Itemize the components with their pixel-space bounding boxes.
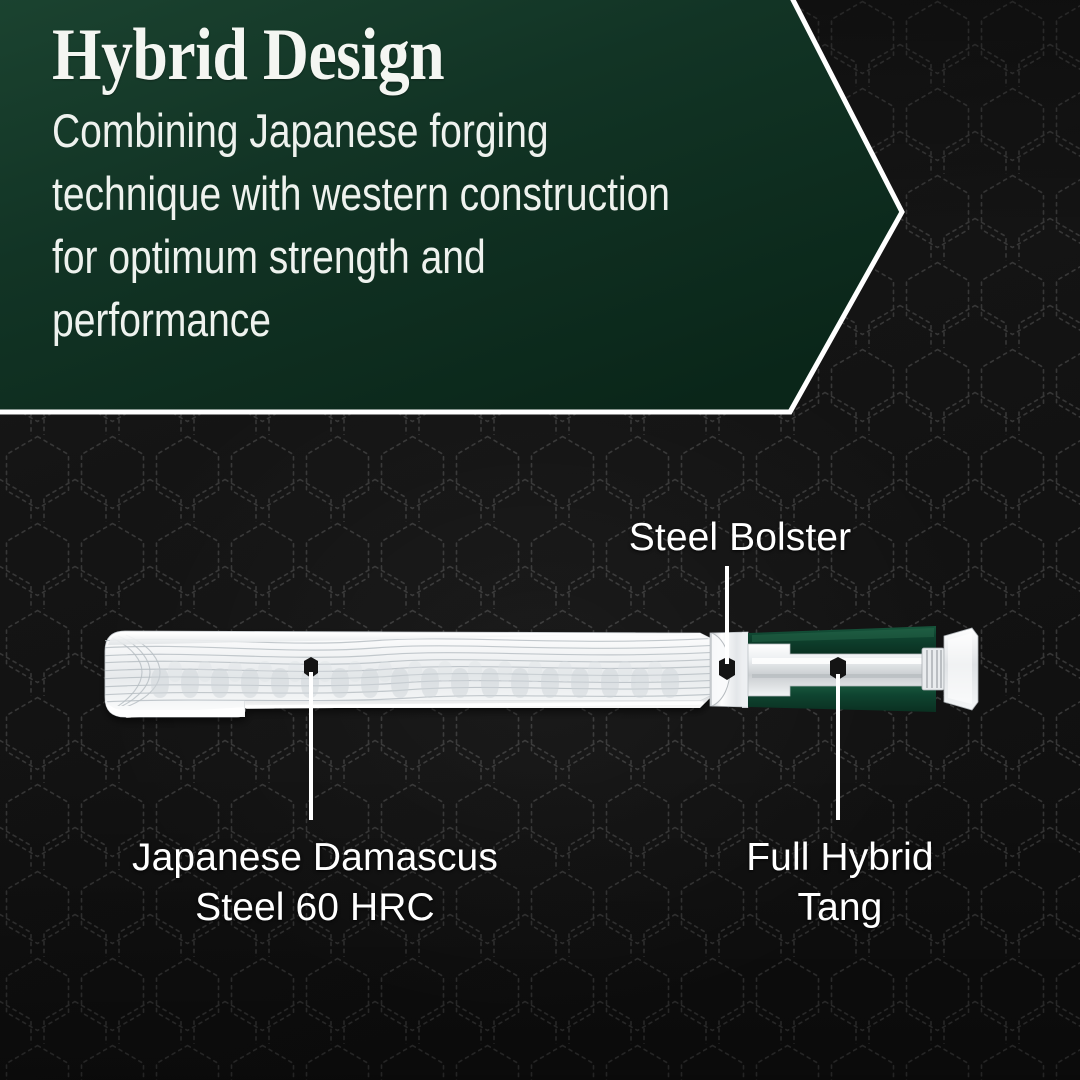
banner-body-line-4: performance xyxy=(52,289,698,352)
callout-tang-line-1: Full Hybrid xyxy=(650,833,1030,883)
banner-body-line-1: Combining Japanese forging xyxy=(52,100,698,163)
page-title: Hybrid Design xyxy=(52,18,721,92)
banner-description: Combining Japanese forging technique wit… xyxy=(52,100,698,352)
endcap-shine xyxy=(948,633,972,704)
hybrid-design-banner: Hybrid Design Combining Japanese forging… xyxy=(0,0,920,420)
callout-label-japanese-damascus: Japanese Damascus Steel 60 HRC xyxy=(55,833,575,932)
damascus-blade xyxy=(100,631,720,717)
banner-body-line-3: for optimum strength and xyxy=(52,226,698,289)
callout-label-steel-bolster: Steel Bolster xyxy=(525,516,955,560)
bolster-edge-shade xyxy=(742,632,748,708)
callout-damascus-line-2: Steel 60 HRC xyxy=(55,883,575,933)
callout-tang-line-2: Tang xyxy=(650,883,1030,933)
banner-text-block: Hybrid Design Combining Japanese forging… xyxy=(0,0,830,420)
callout-damascus-line-1: Japanese Damascus xyxy=(55,833,575,883)
banner-body-line-2: technique with western construction xyxy=(52,163,698,226)
callout-label-full-hybrid-tang: Full Hybrid Tang xyxy=(650,833,1030,932)
callout-steel-bolster-line-1: Steel Bolster xyxy=(525,516,955,560)
